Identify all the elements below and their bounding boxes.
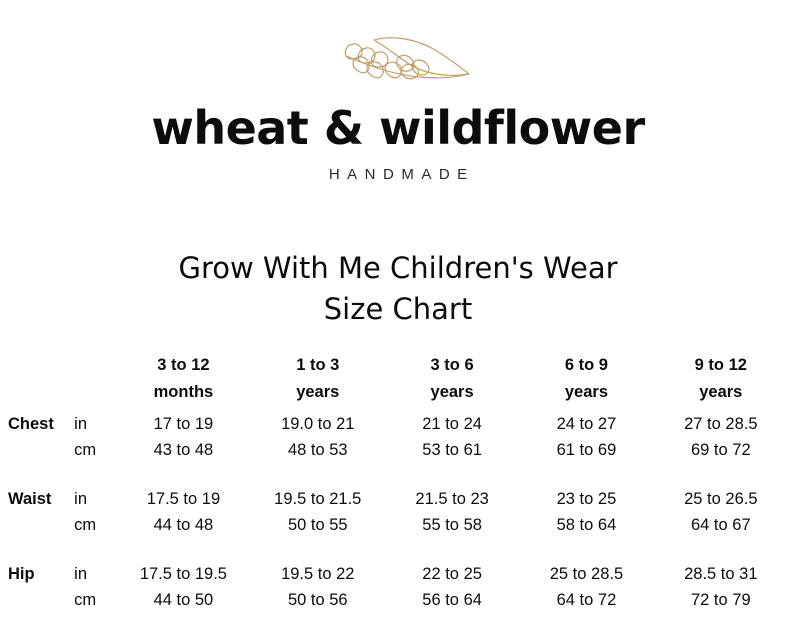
- cell-waist-in-1: 19.5 to 21.5: [251, 482, 385, 512]
- row-label-chest-spacer: [8, 437, 74, 463]
- cell-hip-cm-2: 56 to 64: [385, 587, 519, 613]
- cell-chest-in-4: 27 to 28.5: [654, 407, 788, 437]
- row-unit-hip-in: in: [74, 557, 116, 587]
- cell-chest-in-0: 17 to 19: [116, 407, 250, 437]
- cell-chest-cm-2: 53 to 61: [385, 437, 519, 463]
- row-label-hip: Hip: [8, 557, 74, 587]
- row-label-hip-spacer: [8, 587, 74, 613]
- cell-chest-in-2: 21 to 24: [385, 407, 519, 437]
- cell-hip-in-0: 17.5 to 19.5: [116, 557, 250, 587]
- cell-waist-cm-1: 50 to 55: [251, 512, 385, 538]
- table-row: cm 44 to 48 50 to 55 55 to 58 58 to 64 6…: [8, 512, 788, 538]
- table-row: cm 44 to 50 50 to 56 56 to 64 64 to 72 7…: [8, 587, 788, 613]
- cell-hip-in-3: 25 to 28.5: [519, 557, 653, 587]
- column-header-1: 1 to 3 years: [251, 352, 385, 407]
- row-unit-chest-cm: cm: [74, 437, 116, 463]
- cell-waist-in-4: 25 to 26.5: [654, 482, 788, 512]
- cell-hip-cm-0: 44 to 50: [116, 587, 250, 613]
- cell-hip-in-4: 28.5 to 31: [654, 557, 788, 587]
- size-chart-page: wheat & wildflower HANDMADE Grow With Me…: [0, 0, 796, 640]
- row-spacer: [8, 463, 788, 482]
- size-chart-table: 3 to 12 months 1 to 3 years 3 to 6 years…: [8, 352, 788, 613]
- table-row: cm 43 to 48 48 to 53 53 to 61 61 to 69 6…: [8, 437, 788, 463]
- page-title-line-2: Size Chart: [0, 289, 796, 330]
- column-header-3: 6 to 9 years: [519, 352, 653, 407]
- header-blank-unit: [74, 352, 116, 407]
- table-row: Hip in 17.5 to 19.5 19.5 to 22 22 to 25 …: [8, 557, 788, 587]
- column-header-2: 3 to 6 years: [385, 352, 519, 407]
- page-title-line-1: Grow With Me Children's Wear: [0, 248, 796, 289]
- brand-tagline: HANDMADE: [0, 166, 796, 183]
- brand-header: wheat & wildflower HANDMADE: [0, 30, 796, 183]
- row-unit-waist-in: in: [74, 482, 116, 512]
- cell-chest-cm-3: 61 to 69: [519, 437, 653, 463]
- cell-chest-cm-4: 69 to 72: [654, 437, 788, 463]
- cell-chest-cm-0: 43 to 48: [116, 437, 250, 463]
- cell-hip-cm-1: 50 to 56: [251, 587, 385, 613]
- cell-waist-cm-3: 58 to 64: [519, 512, 653, 538]
- cell-waist-cm-2: 55 to 58: [385, 512, 519, 538]
- column-header-4: 9 to 12 years: [654, 352, 788, 407]
- header-blank-measure: [8, 352, 74, 407]
- cell-chest-in-1: 19.0 to 21: [251, 407, 385, 437]
- cell-waist-in-0: 17.5 to 19: [116, 482, 250, 512]
- cell-waist-cm-0: 44 to 48: [116, 512, 250, 538]
- brand-name: wheat & wildflower: [0, 104, 796, 152]
- cell-waist-cm-4: 64 to 67: [654, 512, 788, 538]
- row-label-waist-spacer: [8, 512, 74, 538]
- row-label-chest: Chest: [8, 407, 74, 437]
- cell-chest-cm-1: 48 to 53: [251, 437, 385, 463]
- cell-hip-cm-3: 64 to 72: [519, 587, 653, 613]
- row-unit-hip-cm: cm: [74, 587, 116, 613]
- row-label-waist: Waist: [8, 482, 74, 512]
- table-row: Waist in 17.5 to 19 19.5 to 21.5 21.5 to…: [8, 482, 788, 512]
- row-spacer: [8, 538, 788, 557]
- table-row: Chest in 17 to 19 19.0 to 21 21 to 24 24…: [8, 407, 788, 437]
- row-unit-waist-cm: cm: [74, 512, 116, 538]
- cell-hip-cm-4: 72 to 79: [654, 587, 788, 613]
- table-header-row: 3 to 12 months 1 to 3 years 3 to 6 years…: [8, 352, 788, 407]
- wheat-stalk-icon: [313, 30, 483, 92]
- cell-waist-in-2: 21.5 to 23: [385, 482, 519, 512]
- cell-hip-in-2: 22 to 25: [385, 557, 519, 587]
- cell-hip-in-1: 19.5 to 22: [251, 557, 385, 587]
- row-unit-chest-in: in: [74, 407, 116, 437]
- column-header-0: 3 to 12 months: [116, 352, 250, 407]
- cell-chest-in-3: 24 to 27: [519, 407, 653, 437]
- cell-waist-in-3: 23 to 25: [519, 482, 653, 512]
- page-title: Grow With Me Children's Wear Size Chart: [0, 248, 796, 330]
